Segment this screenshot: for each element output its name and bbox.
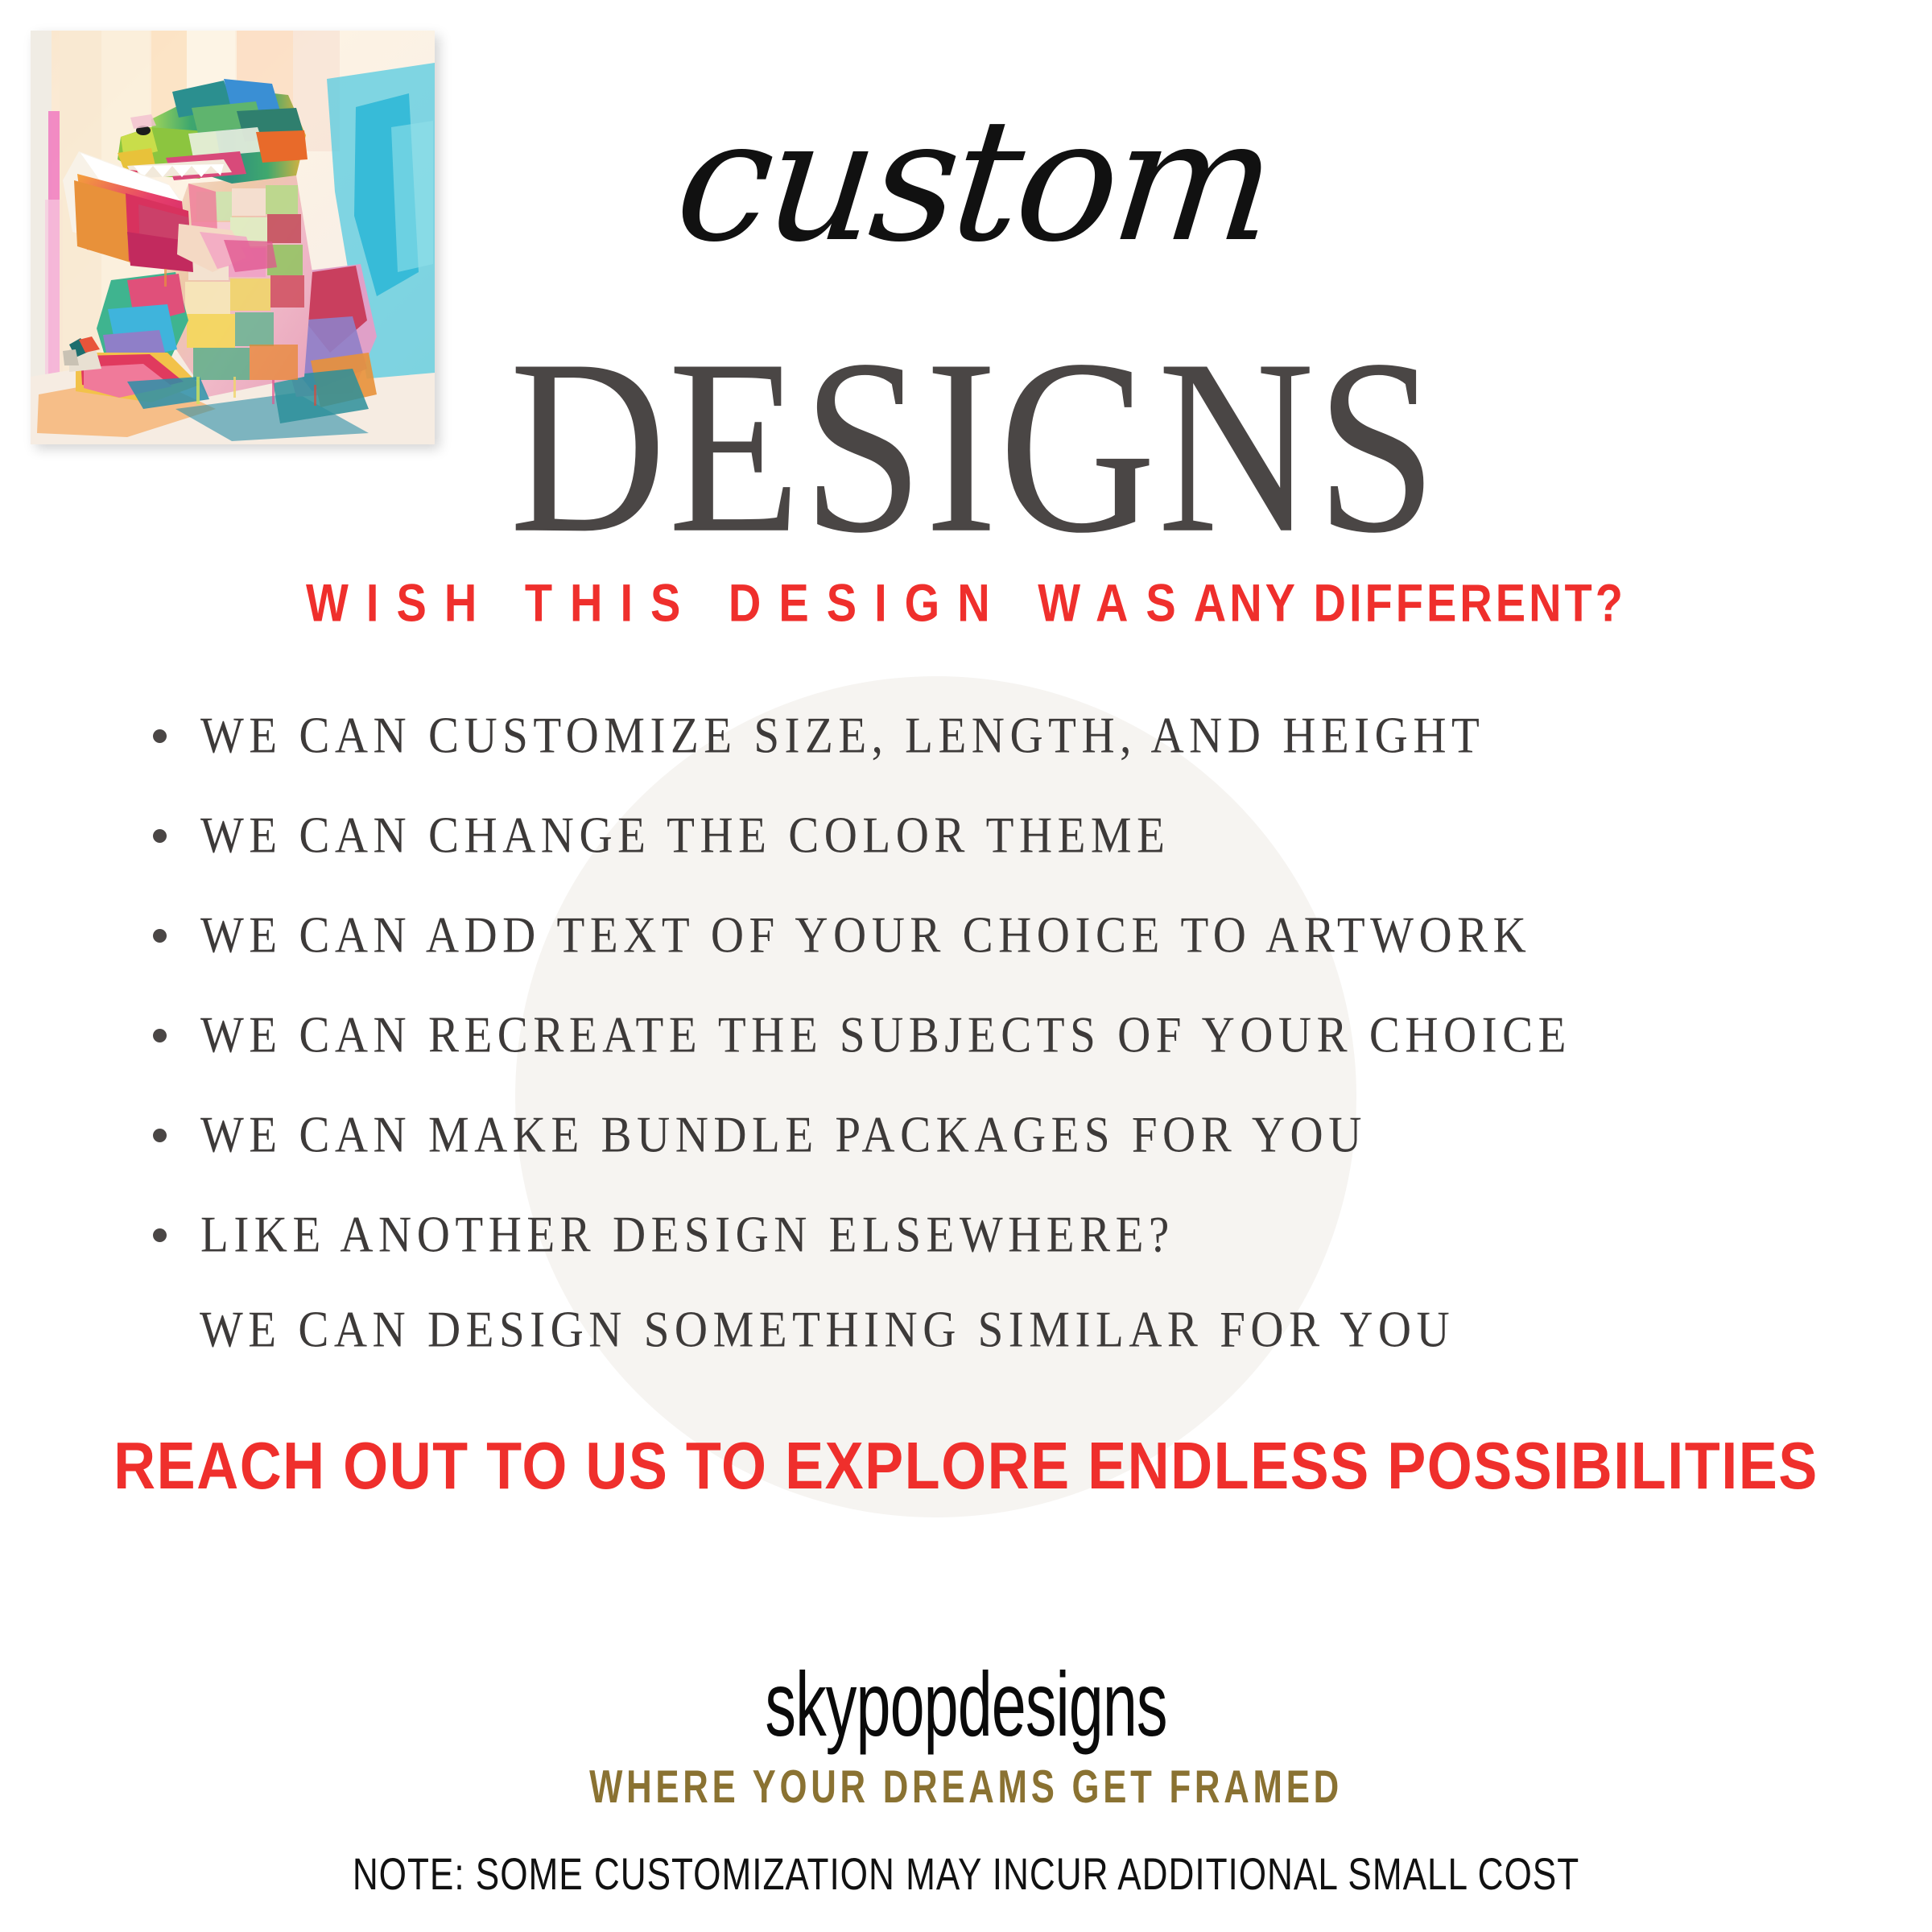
subtitle-part-two: ANY DIFFERENT? [1194,572,1626,632]
bullet-dot-icon [153,1129,167,1142]
bullet-dot-icon [153,829,167,843]
list-item-continuation-label: WE CAN DESIGN SOMETHING SIMILAR FOR YOU [200,1304,1455,1356]
bullet-dot-icon [153,929,167,943]
call-to-action-text: REACH OUT TO US TO EXPLORE ENDLESS POSSI… [0,1433,1932,1500]
features-list: WE CAN CUSTOMIZE SIZE, LENGTH, AND HEIGH… [153,710,1843,1309]
bullet-dot-icon [153,729,167,743]
subtitle-part-one: WISH THIS DESIGN WAS [306,572,1194,632]
list-item-label: WE CAN ADD TEXT OF YOUR CHOICE TO ARTWOR… [200,910,1843,961]
list-item: LIKE ANOTHER DESIGN ELSEWHERE? [153,1209,1843,1309]
list-item-label: WE CAN RECREATE THE SUBJECTS OF YOUR CHO… [200,1009,1843,1061]
footer-note: NOTE: SOME CUSTOMIZATION MAY INCUR ADDIT… [39,1851,1893,1896]
brand-logo-text: skypopdesigns [77,1658,1855,1749]
page-title-script: custom [442,97,1506,266]
bullet-dot-icon [153,1228,167,1242]
custom-designs-poster: custom DESIGNS WISH THIS DESIGN WASANY D… [0,0,1932,1932]
list-item-label: LIKE ANOTHER DESIGN ELSEWHERE? [200,1209,1843,1261]
page-title: DESIGNS [370,322,1578,572]
bullet-dot-icon [153,1029,167,1042]
brand-tagline: WHERE YOUR DREAMS GET FRAMED [48,1763,1884,1810]
list-item: WE CAN CHANGE THE COLOR THEME [153,810,1843,910]
list-item-label: WE CAN MAKE BUNDLE PACKAGES FOR YOU [200,1109,1843,1161]
list-item: WE CAN ADD TEXT OF YOUR CHOICE TO ARTWOR… [153,910,1843,1009]
list-item: WE CAN RECREATE THE SUBJECTS OF YOUR CHO… [153,1009,1843,1109]
list-item-label: WE CAN CUSTOMIZE SIZE, LENGTH, AND HEIGH… [200,710,1843,762]
list-item: WE CAN MAKE BUNDLE PACKAGES FOR YOU [153,1109,1843,1209]
list-item-label: WE CAN CHANGE THE COLOR THEME [200,810,1843,861]
subtitle: WISH THIS DESIGN WASANY DIFFERENT? [0,576,1932,630]
list-item: WE CAN CUSTOMIZE SIZE, LENGTH, AND HEIGH… [153,710,1843,810]
